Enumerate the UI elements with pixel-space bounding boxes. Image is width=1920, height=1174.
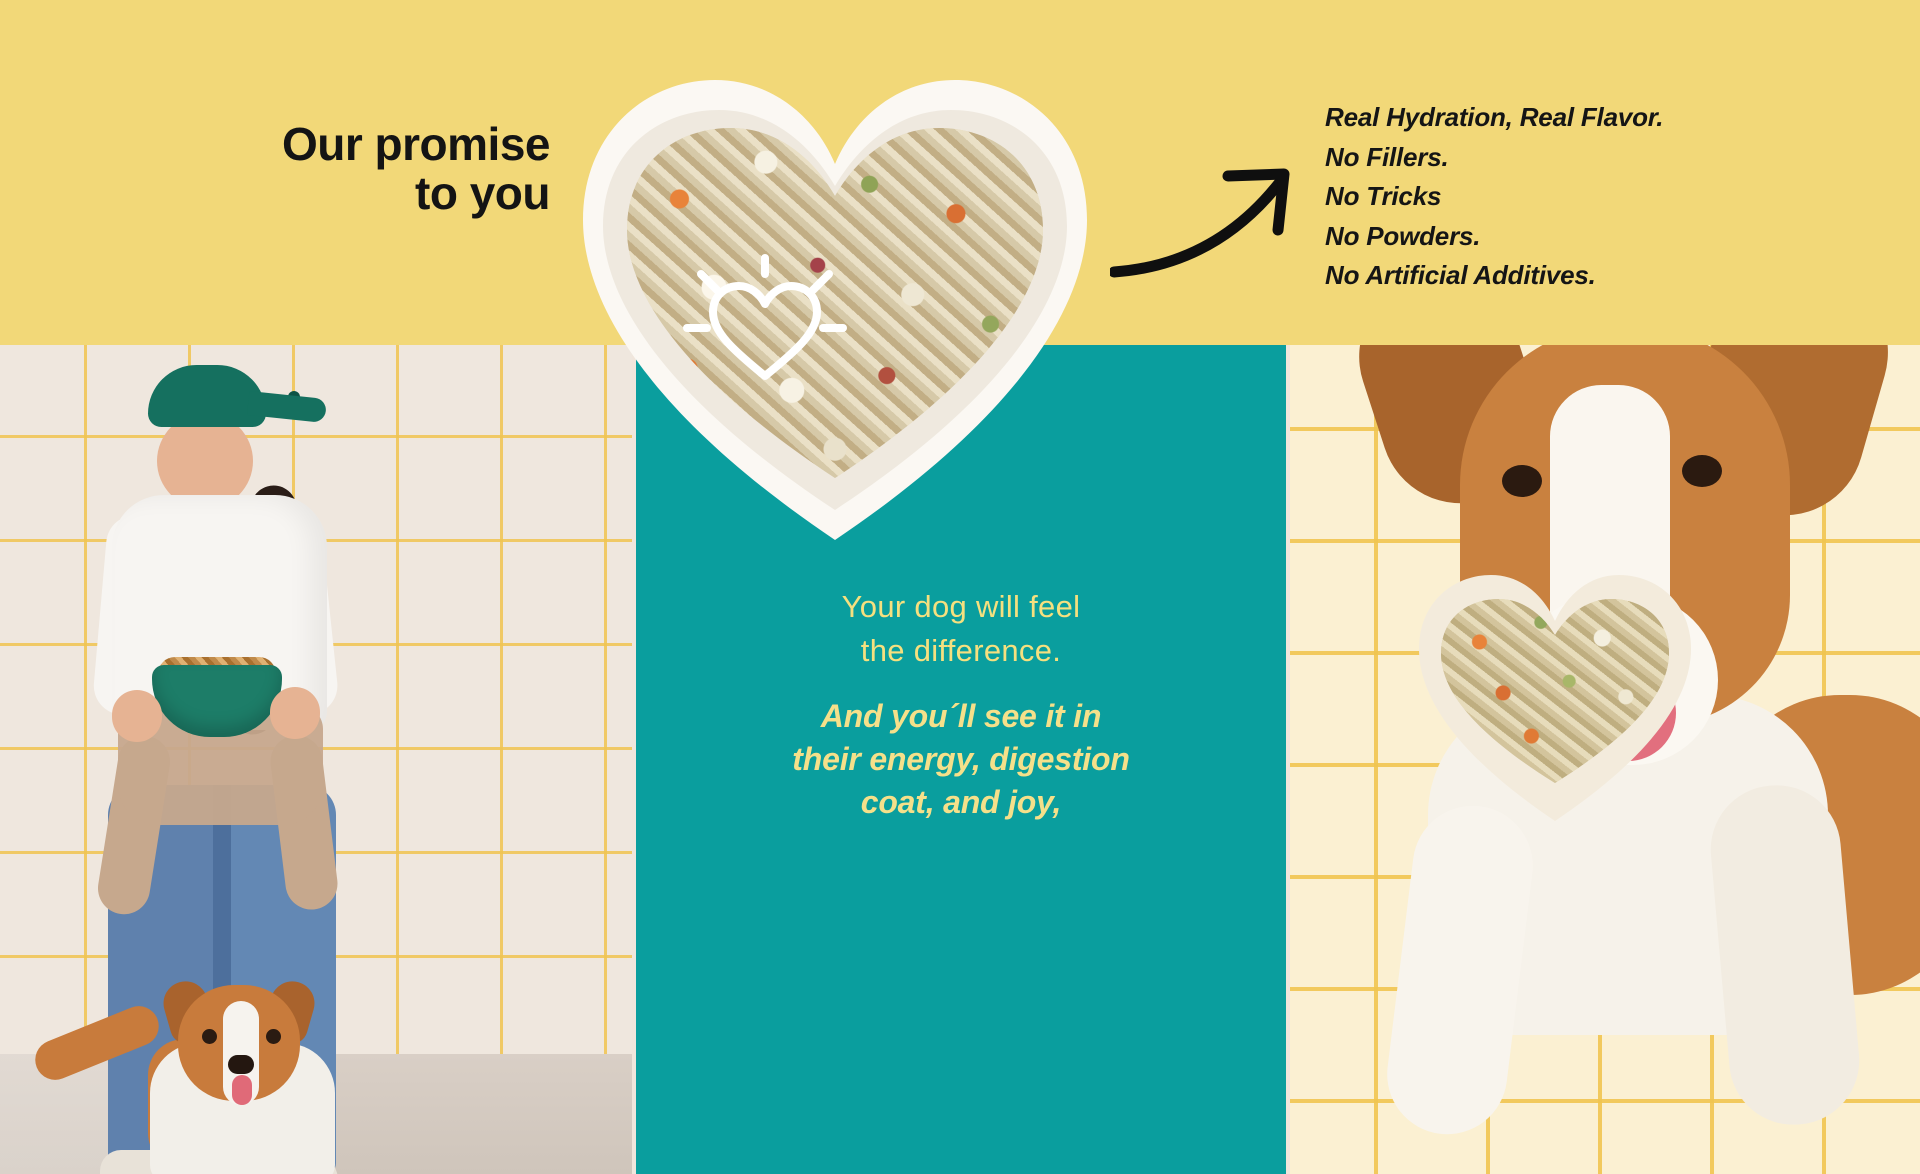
page-title: Our promise to you — [130, 120, 550, 218]
hand-right — [270, 687, 320, 739]
promo-graphic: Our promise to you Real Hydration, Real … — [0, 0, 1920, 1174]
hand-left — [112, 690, 162, 742]
right-heart-bowl — [1415, 565, 1695, 827]
promise-item-4: No Powders. — [1325, 217, 1663, 257]
center-bold-line-2: their energy, digestion — [792, 738, 1129, 781]
promise-list: Real Hydration, Real Flavor. No Fillers.… — [1325, 98, 1663, 296]
heart-sparkle-doodle-icon — [665, 250, 865, 400]
headline-line-1: Our promise — [130, 120, 550, 169]
promise-item-3: No Tricks — [1325, 177, 1663, 217]
dog-eye-left — [1502, 465, 1542, 497]
dog-nose — [228, 1055, 254, 1074]
promise-item-5: No Artificial Additives. — [1325, 256, 1663, 296]
dog-tongue — [232, 1075, 252, 1105]
center-light-line-1: Your dog will feel — [842, 585, 1081, 629]
cap-button — [288, 391, 300, 403]
bowl-food — [1437, 591, 1673, 787]
promise-item-1: Real Hydration, Real Flavor. — [1325, 98, 1663, 138]
headline-line-2: to you — [130, 169, 550, 218]
center-light-line-2: the difference. — [842, 629, 1081, 673]
left-dog — [140, 985, 430, 1174]
dog-eye-right — [266, 1029, 281, 1044]
center-bold-line-3: coat, and joy, — [792, 781, 1129, 824]
promise-item-2: No Fillers. — [1325, 138, 1663, 178]
center-heart-bowl — [575, 60, 1095, 590]
center-bold-text: And you´ll see it in their energy, diges… — [792, 695, 1129, 825]
dog-eye-left — [202, 1029, 217, 1044]
curved-arrow-up-right-icon — [1110, 160, 1310, 280]
left-photo — [0, 345, 632, 1174]
green-cap — [148, 365, 266, 427]
dog-eye-right — [1682, 455, 1722, 487]
center-light-text: Your dog will feel the difference. — [842, 585, 1081, 673]
center-bold-line-1: And you´ll see it in — [792, 695, 1129, 738]
